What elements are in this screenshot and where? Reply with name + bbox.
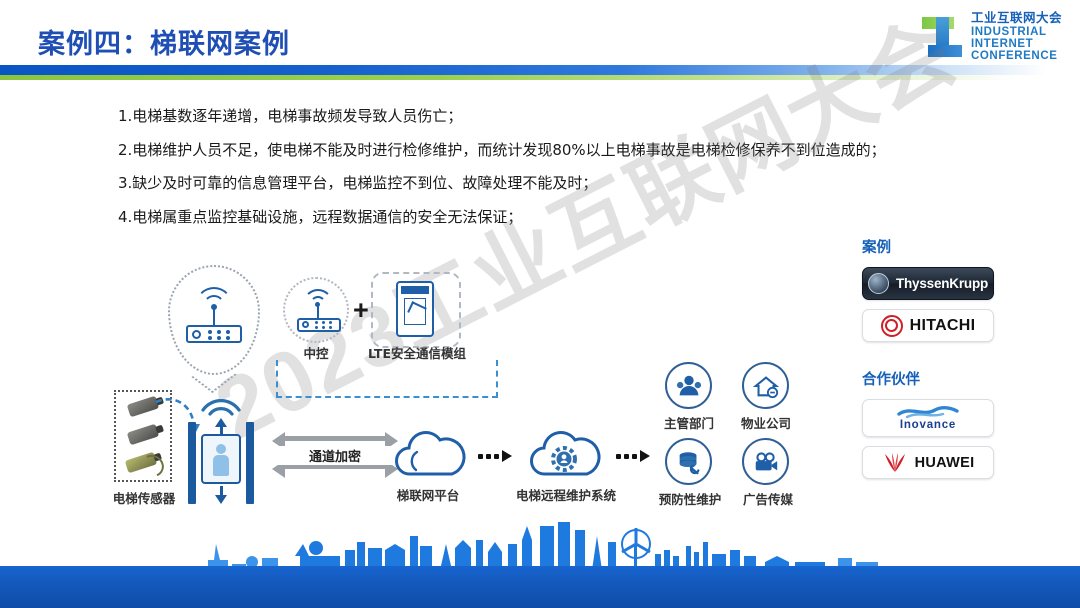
central-control-icon bbox=[283, 277, 349, 343]
header-divider-green bbox=[0, 75, 1080, 80]
flow-arrow-2-icon bbox=[616, 450, 650, 462]
remote-maintenance-label: 电梯远程维护系统 bbox=[506, 485, 626, 504]
consumer-label-0: 主管部门 bbox=[655, 413, 723, 432]
dashed-connector bbox=[276, 360, 498, 398]
consumer-icon-video-camera bbox=[742, 438, 789, 485]
channel-encryption-label: 通道加密 bbox=[272, 446, 398, 465]
channel-encryption-arrows: 通道加密 bbox=[272, 430, 398, 480]
plus-icon: + bbox=[353, 295, 369, 326]
partner-logo-huawei[interactable]: HUAWEI bbox=[862, 446, 994, 479]
side-panel: 案例 ThyssenKrupp HITACHI 合作伙伴 Inovance bbox=[862, 236, 1012, 488]
slide-root: 案例四：梯联网案例 工业互联网大会 INDUSTRIAL INTERNET CO… bbox=[0, 0, 1080, 608]
consumer-label-1: 物业公司 bbox=[732, 413, 800, 432]
consumer-label-2: 预防性维护 bbox=[650, 489, 730, 508]
logo-title-en-2: INTERNET bbox=[971, 38, 1062, 50]
hitachi-emblem-icon bbox=[881, 315, 903, 337]
elevator-sensor-label: 电梯传感器 bbox=[100, 488, 188, 507]
header-divider-blue bbox=[0, 65, 1080, 75]
footer-skyline bbox=[0, 528, 1080, 608]
page-title: 案例四：梯联网案例 bbox=[38, 22, 290, 61]
elevator-icon bbox=[188, 418, 254, 508]
iot-platform-icon bbox=[390, 428, 468, 480]
consumer-icon-people bbox=[665, 362, 712, 409]
inovance-label: Inovance bbox=[900, 419, 956, 431]
inovance-wave-icon bbox=[897, 405, 959, 419]
consumer-label-3: 广告传媒 bbox=[732, 489, 804, 508]
flow-arrow-1-icon bbox=[478, 450, 512, 462]
list-item: 1.电梯基数逐年递增，电梯事故频发导致人员伤亡； bbox=[118, 108, 948, 125]
thyssenkrupp-emblem-icon bbox=[868, 273, 889, 294]
thyssenkrupp-label: ThyssenKrupp bbox=[896, 276, 988, 291]
list-item: 3.缺少及时可靠的信息管理平台，电梯监控不到位、故障处理不能及时； bbox=[118, 175, 948, 192]
huawei-fan-icon bbox=[882, 453, 908, 473]
footer-band bbox=[0, 566, 1080, 608]
logo-mark-icon bbox=[920, 14, 964, 60]
partner-logo-inovance[interactable]: Inovance bbox=[862, 399, 994, 437]
logo-title-en-1: INDUSTRIAL bbox=[971, 26, 1062, 38]
lte-module-icon bbox=[396, 281, 434, 337]
consumer-icon-database-wrench bbox=[665, 438, 712, 485]
huawei-label: HUAWEI bbox=[915, 455, 975, 471]
remote-maintenance-icon bbox=[525, 428, 603, 480]
logo-title-en-3: CONFERENCE bbox=[971, 50, 1062, 62]
partners-title: 合作伙伴 bbox=[862, 368, 1012, 389]
elevator-wifi-icon bbox=[200, 392, 242, 416]
logo-title-cn: 工业互联网大会 bbox=[971, 12, 1062, 26]
iot-platform-label: 梯联网平台 bbox=[378, 485, 478, 504]
cases-title: 案例 bbox=[862, 236, 1012, 257]
hitachi-label: HITACHI bbox=[910, 317, 976, 335]
gateway-pin-icon bbox=[168, 265, 260, 375]
case-logo-hitachi[interactable]: HITACHI bbox=[862, 309, 994, 342]
list-item: 4.电梯属重点监控基础设施，远程数据通信的安全无法保证； bbox=[118, 209, 948, 226]
conference-logo: 工业互联网大会 INDUSTRIAL INTERNET CONFERENCE bbox=[920, 12, 1062, 63]
problem-list: 1.电梯基数逐年递增，电梯事故频发导致人员伤亡； 2.电梯维护人员不足，使电梯不… bbox=[118, 108, 948, 242]
case-logo-thyssenkrupp[interactable]: ThyssenKrupp bbox=[862, 267, 994, 300]
skyline-silhouette-icon bbox=[0, 522, 1080, 570]
logo-text: 工业互联网大会 INDUSTRIAL INTERNET CONFERENCE bbox=[971, 12, 1062, 63]
list-item: 2.电梯维护人员不足，使电梯不能及时进行检修维护，而统计发现80%以上电梯事故是… bbox=[118, 142, 948, 159]
consumer-icon-house bbox=[742, 362, 789, 409]
